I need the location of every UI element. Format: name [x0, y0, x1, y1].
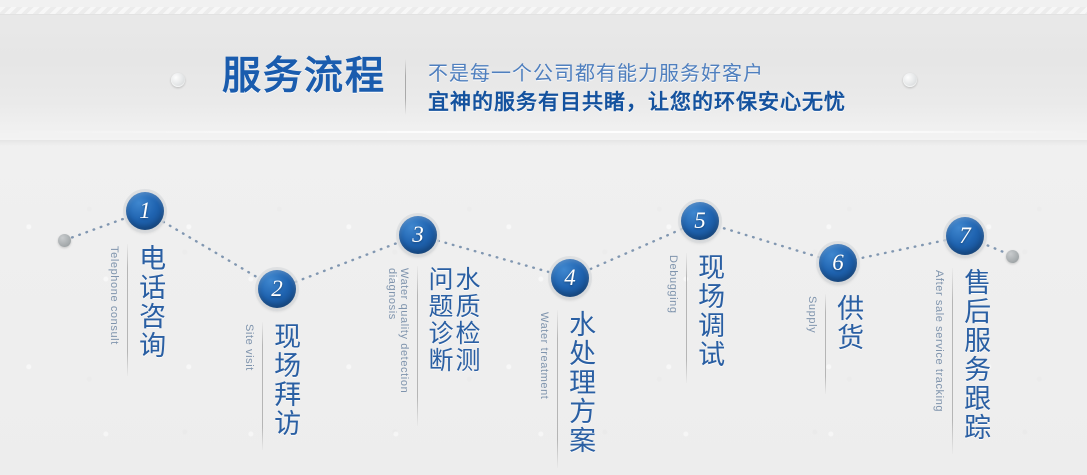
flow-end-dot	[1006, 250, 1019, 263]
label-rule-4	[557, 310, 558, 468]
step-number-6: 6	[832, 250, 844, 276]
step-label-cn-6: 供货	[833, 294, 862, 352]
flow-start-dot	[58, 234, 71, 247]
step-number-5: 5	[694, 208, 706, 234]
step-label-cn-4: 水处理方案	[565, 310, 594, 455]
step-label-cn-5: 现场调试	[694, 253, 723, 369]
step-label-en-6: Supply	[806, 294, 818, 333]
step-label-5: Debugging 现场调试	[667, 253, 723, 383]
step-node-2[interactable]: 2	[258, 270, 296, 308]
label-rule-5	[686, 253, 687, 383]
step-node-7[interactable]: 7	[946, 217, 984, 255]
step-node-5[interactable]: 5	[681, 202, 719, 240]
step-number-4: 4	[564, 265, 576, 291]
step-number-3: 3	[412, 222, 424, 248]
step-label-cn-2: 现场拜访	[270, 322, 299, 438]
rivet-icon-left	[171, 73, 185, 87]
banner-highlight-line	[0, 131, 1087, 133]
label-rule-7	[952, 268, 953, 454]
page-title: 服务流程	[222, 55, 386, 99]
step-label-cn-3: 问题诊断	[425, 266, 452, 374]
label-rule-2	[262, 322, 263, 450]
step-node-3[interactable]: 3	[399, 216, 437, 254]
subtitle-line-2: 宜神的服务有目共睹，让您的环保安心无忧	[428, 88, 846, 118]
step-label-cn-7: 售后服务跟踪	[960, 268, 989, 442]
step-label-4: Water treatment 水处理方案	[538, 310, 594, 468]
step-label-6: Supply 供货	[806, 294, 862, 394]
rivet-icon-right	[903, 73, 917, 87]
step-number-1: 1	[139, 198, 151, 224]
subtitle-line-1: 不是每一个公司都有能力服务好客户	[428, 61, 846, 88]
step-label-7: After sale service tracking 售后服务跟踪	[933, 268, 989, 454]
header-banner: 服务流程 不是每一个公司都有能力服务好客户 宜神的服务有目共睹，让您的环保安心无…	[0, 7, 1087, 140]
step-label-en-5: Debugging	[667, 253, 679, 314]
step-label-en-2: Site visit	[243, 322, 255, 371]
step-label-en-4: Water treatment	[538, 310, 550, 399]
label-rule-6	[825, 294, 826, 394]
step-number-7: 7	[959, 223, 971, 249]
step-label-en-7: After sale service tracking	[933, 268, 945, 412]
label-rule-3	[417, 266, 418, 426]
title-divider	[405, 59, 406, 115]
service-process-flow: 1 Telephone consult 电话咨询 2 Site visit 现场…	[0, 146, 1087, 475]
step-number-2: 2	[271, 276, 283, 302]
banner-top-stripe	[0, 7, 1087, 15]
step-label-3: Water quality detection diagnosis 问题诊断 水…	[386, 266, 479, 426]
step-node-6[interactable]: 6	[819, 244, 857, 282]
step-label-cn-1: 电话咨询	[135, 244, 164, 360]
step-label-1: Telephone consult 电话咨询	[108, 244, 164, 376]
step-label-2: Site visit 现场拜访	[243, 322, 299, 450]
step-node-4[interactable]: 4	[551, 259, 589, 297]
banner-subtitle: 不是每一个公司都有能力服务好客户 宜神的服务有目共睹，让您的环保安心无忧	[428, 61, 846, 118]
step-node-1[interactable]: 1	[126, 192, 164, 230]
step-label-cn2-3: 水质检测	[452, 266, 479, 374]
step-label-en-1: Telephone consult	[108, 244, 120, 345]
step-label-en-3: Water quality detection diagnosis	[386, 266, 410, 393]
label-rule-1	[127, 244, 128, 376]
